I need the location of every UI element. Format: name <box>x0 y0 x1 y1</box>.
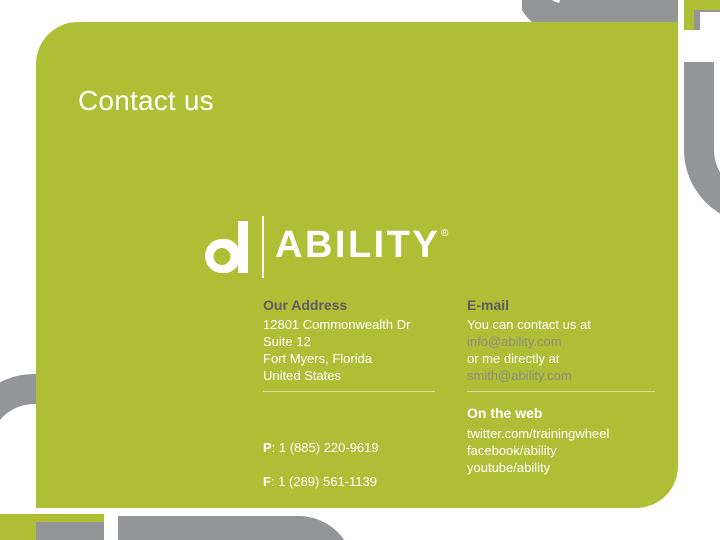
fax-number[interactable]: : 1 (289) 561-1139 <box>271 474 377 489</box>
logo-wordmark: ABILITY <box>275 224 440 266</box>
web-link-twitter[interactable]: twitter.com/trainingwheel <box>467 425 667 442</box>
web-link-facebook[interactable]: facebook/ability <box>467 442 667 459</box>
email-address-general[interactable]: info@ability.com <box>467 333 655 350</box>
address-divider <box>263 391 435 392</box>
logo-divider <box>262 216 264 278</box>
bottom-left-green-nub <box>0 512 104 540</box>
web-block: On the web twitter.com/trainingwheel fac… <box>467 404 667 476</box>
address-line-4: United States <box>263 367 435 384</box>
address-line-3: Fort Myers, Florida <box>263 350 435 367</box>
phone-row: P: 1 (885) 220-9619 <box>263 439 453 456</box>
email-block: E-mail You can contact us at info@abilit… <box>467 296 655 392</box>
fax-row: F: 1 (289) 561-1139 <box>263 473 453 490</box>
web-link-youtube[interactable]: youtube/ability <box>467 459 667 476</box>
address-heading: Our Address <box>263 296 435 314</box>
page-title: Contact us <box>78 84 214 118</box>
slide-canvas: Contact us ABILITY ® Our Address 12801 C… <box>0 0 720 540</box>
email-intro-1: You can contact us at <box>467 316 655 333</box>
ability-logo: ABILITY ® <box>205 216 465 278</box>
phone-label: P <box>263 440 272 455</box>
ability-a-mark-icon <box>205 221 251 273</box>
email-address-personal[interactable]: smith@ability.com <box>467 367 655 384</box>
phone-number[interactable]: : 1 (885) 220-9619 <box>272 440 379 455</box>
address-line-2: Suite 12 <box>263 333 435 350</box>
email-divider <box>467 391 655 392</box>
address-line-1: 12801 Commonwealth Dr <box>263 316 435 333</box>
address-block: Our Address 12801 Commonwealth Dr Suite … <box>263 296 435 392</box>
web-heading: On the web <box>467 404 667 422</box>
email-heading: E-mail <box>467 296 655 314</box>
top-right-green-nub <box>684 0 720 34</box>
phone-block: P: 1 (885) 220-9619 F: 1 (289) 561-1139 <box>263 439 453 507</box>
registered-trademark-icon: ® <box>441 228 448 239</box>
fax-label: F <box>263 474 271 489</box>
email-intro-2: or me directly at <box>467 350 655 367</box>
